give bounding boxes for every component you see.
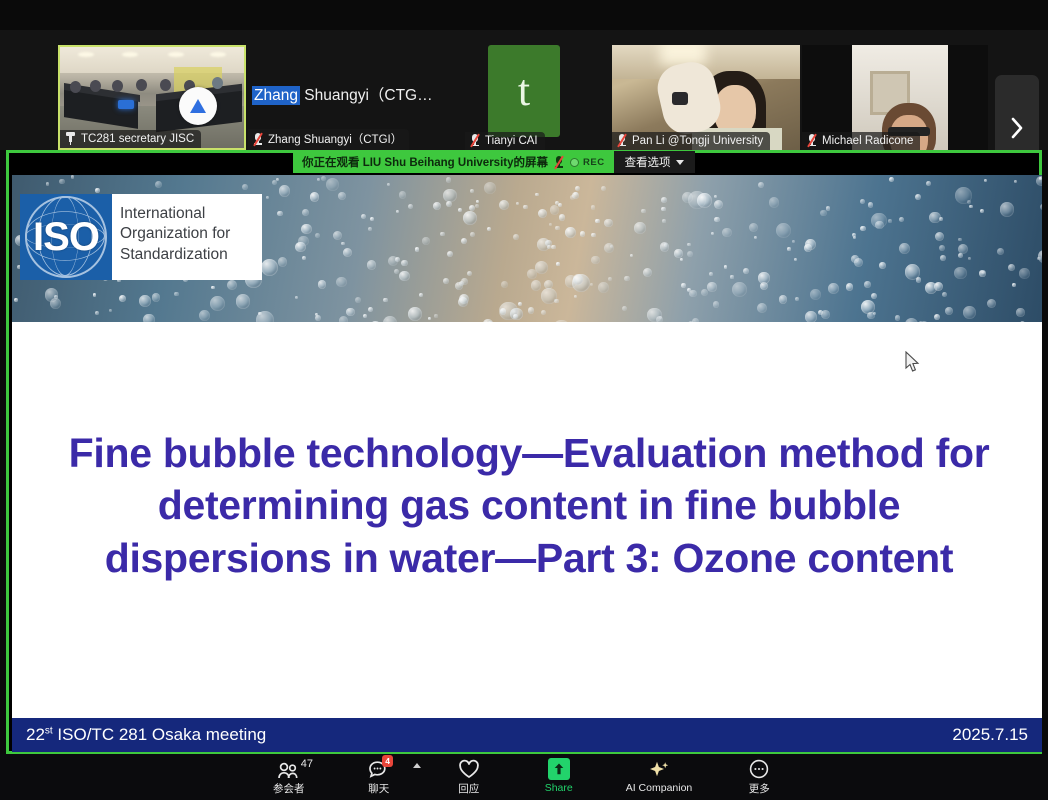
- toolbar-label: 参会者: [273, 781, 305, 796]
- bubble-photo-banner: ISO International Organization for Stand…: [12, 175, 1042, 322]
- toolbar-label: 聊天: [368, 781, 389, 796]
- chat-icon: 4: [367, 759, 391, 779]
- chat-unread-badge: 4: [382, 755, 394, 768]
- view-options-label: 查看选项: [625, 154, 671, 170]
- slide-footer: 22st ISO/TC 281 Osaka meeting 2025.7.15: [12, 718, 1042, 752]
- video-filmstrip: TC281 secretary JISC Zhang Shuangyi（CTG……: [0, 30, 1048, 150]
- avatar-letter: t: [518, 69, 530, 113]
- toolbar-reactions[interactable]: 回应: [446, 759, 492, 796]
- participant-namebar: TC281 secretary JISC: [60, 130, 201, 148]
- recording-indicator: REC: [570, 157, 605, 168]
- participant-namebar: Tianyi CAI: [465, 132, 545, 150]
- iso-wordmark: ISO: [33, 215, 99, 260]
- iso-name-line2: Organization for: [120, 224, 256, 244]
- slide-date: 2025.7.15: [952, 725, 1028, 745]
- toolbar-label: Share: [545, 782, 573, 794]
- avatar: t: [488, 45, 560, 137]
- mic-muted-icon: [554, 156, 564, 169]
- video-tile-tianyi-cai[interactable]: t Tianyi CAI: [465, 45, 610, 150]
- participant-namebar: Zhang Shuangyi（CTGI）: [248, 129, 409, 150]
- shared-screen-region: ISO International Organization for Stand…: [6, 150, 1042, 754]
- toolbar-ai-companion[interactable]: AI Companion: [626, 760, 693, 794]
- participant-name: TC281 secretary JISC: [81, 133, 194, 145]
- mic-muted-icon: [470, 134, 480, 147]
- video-tile-michael-radicone[interactable]: Michael Radicone: [802, 45, 988, 150]
- participant-namebar: Michael Radicone: [802, 132, 920, 150]
- participant-name: Pan Li @Tongji University: [632, 135, 763, 147]
- share-status-text: 你正在观看 LIU Shu Beihang University的屏幕: [302, 154, 548, 170]
- participant-display-name: Zhang Shuangyi（CTG…: [252, 83, 433, 105]
- chevron-up-icon[interactable]: [413, 763, 421, 768]
- toolbar-more[interactable]: 更多: [736, 759, 782, 796]
- toolbar-participants[interactable]: 47 参会者: [266, 759, 312, 796]
- screen-share-status-banner: 你正在观看 LIU Shu Beihang University的屏幕 REC …: [293, 151, 695, 173]
- participant-namebar: Pan Li @Tongji University: [612, 132, 770, 150]
- participant-name: Michael Radicone: [822, 135, 913, 147]
- iso-name-line1: International: [120, 204, 256, 224]
- zoom-toolbar: 47 参会者 4 聊天 回应: [0, 754, 1048, 800]
- participants-count: 47: [301, 758, 313, 770]
- mic-muted-icon: [253, 133, 263, 146]
- iso-logo: ISO International Organization for Stand…: [20, 194, 262, 280]
- video-tile-zhang-shuangyi[interactable]: Zhang Shuangyi（CTG… Zhang Shuangyi（CTGI）: [248, 45, 463, 150]
- share-screen-icon: [548, 760, 570, 780]
- meeting-number: 22: [26, 725, 45, 744]
- toolbar-label: 回应: [458, 781, 479, 796]
- selected-name-fragment: Zhang: [252, 86, 300, 105]
- iso-name-line3: Standardization: [120, 245, 256, 265]
- name-remainder: Shuangyi（CTG…: [300, 87, 433, 104]
- share-status-pill: 你正在观看 LIU Shu Beihang University的屏幕 REC: [293, 151, 614, 173]
- video-tile-pan-li[interactable]: Pan Li @Tongji University: [612, 45, 800, 150]
- rec-label: REC: [583, 157, 605, 168]
- video-tile-tc281-secretary[interactable]: TC281 secretary JISC: [58, 45, 246, 150]
- slide-title: Fine bubble technology—Evaluation method…: [64, 427, 994, 584]
- mic-muted-icon: [807, 134, 817, 147]
- view-options-button[interactable]: 查看选项: [614, 151, 695, 173]
- toolbar-label: 更多: [749, 781, 770, 796]
- participant-name: Zhang Shuangyi（CTGI）: [268, 131, 402, 147]
- zoom-meeting-window: TC281 secretary JISC Zhang Shuangyi（CTG……: [0, 0, 1048, 800]
- iso-full-name: International Organization for Standardi…: [112, 194, 262, 280]
- participants-icon: 47: [277, 759, 301, 779]
- chevron-down-icon: [676, 160, 684, 165]
- toolbar-share-screen[interactable]: Share: [536, 760, 582, 794]
- reactions-heart-icon: [457, 759, 481, 779]
- toolbar-label: AI Companion: [626, 782, 693, 794]
- slide-footer-left: 22st ISO/TC 281 Osaka meeting: [26, 725, 266, 745]
- ai-sparkle-icon: [646, 760, 672, 780]
- meeting-name: ISO/TC 281 Osaka meeting: [53, 725, 267, 744]
- meeting-number-suffix: st: [45, 725, 53, 736]
- iso-mark: ISO: [20, 194, 112, 280]
- toolbar-chat[interactable]: 4 聊天: [356, 759, 402, 796]
- participant-name: Tianyi CAI: [485, 135, 538, 147]
- app-watermark-badge: [179, 87, 217, 125]
- record-dot-icon: [570, 158, 579, 167]
- mic-muted-icon: [617, 134, 627, 147]
- more-dots-icon: [748, 759, 770, 779]
- presentation-slide: ISO International Organization for Stand…: [12, 175, 1042, 752]
- pin-icon: [65, 132, 76, 145]
